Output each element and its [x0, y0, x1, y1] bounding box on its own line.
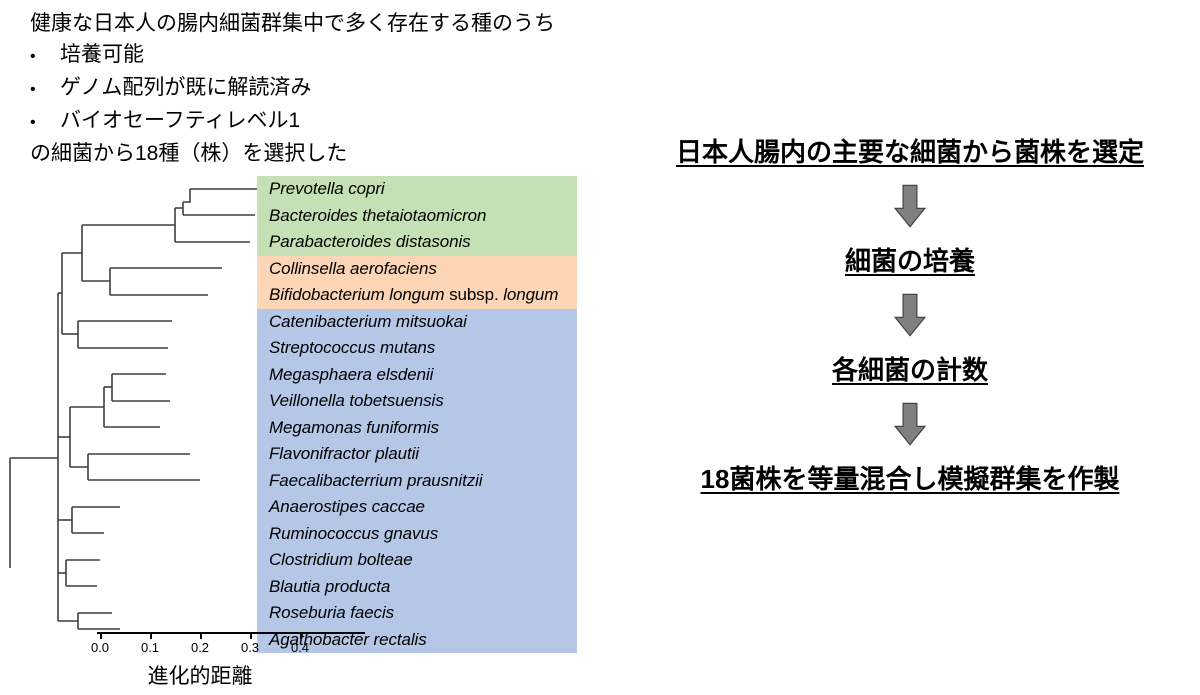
species-row: Anaerostipes caccae — [257, 494, 577, 521]
species-name: Bacteroides thetaiotaomicron — [269, 206, 486, 226]
intro-tail-line: の細菌から18種（株）を選択した — [30, 138, 630, 169]
down-arrow-icon — [887, 183, 933, 229]
species-name: Streptococcus mutans — [269, 338, 435, 358]
bullet-icon: • — [30, 107, 60, 138]
species-name: Collinsella aerofaciens — [269, 259, 437, 279]
axis-tick-label: 0.3 — [241, 640, 259, 655]
species-row: Clostridium bolteae — [257, 547, 577, 574]
axis-tick — [200, 632, 202, 639]
evolutionary-distance-axis: 0.0 0.1 0.2 0.3 0.4 進化的距離 — [0, 632, 600, 695]
species-name: Clostridium bolteae — [269, 550, 413, 570]
species-row: Veillonella tobetsuensis — [257, 388, 577, 415]
species-row: Bacteroides thetaiotaomicron — [257, 203, 577, 230]
intro-text-block: 健康な日本人の腸内細菌群集中で多く存在する種のうち • 培養可能 • ゲノム配列… — [30, 8, 630, 169]
species-name: Veillonella tobetsuensis — [269, 391, 444, 411]
down-arrow-icon — [887, 401, 933, 447]
intro-bullet-item: • ゲノム配列が既に解読済み — [30, 72, 630, 105]
species-name: Catenibacterium mitsuokai — [269, 312, 467, 332]
species-name: Anaerostipes caccae — [269, 497, 425, 517]
species-row: Roseburia faecis — [257, 600, 577, 627]
axis-tick-label: 0.0 — [91, 640, 109, 655]
flow-step-2: 細菌の培養 — [845, 241, 975, 278]
intro-bullet-item: • 培養可能 — [30, 39, 630, 72]
intro-bullet-label: バイオセーフティレベル1 — [60, 105, 300, 136]
species-row: Flavonifractor plautii — [257, 441, 577, 468]
species-row: Ruminococcus gnavus — [257, 521, 577, 548]
species-name: Ruminococcus gnavus — [269, 524, 438, 544]
species-row: Bifidobacterium longum subsp. longum — [257, 282, 577, 309]
phylogenetic-tree-figure: Prevotella copri Bacteroides thetaiotaom… — [0, 168, 600, 695]
species-row: Faecalibacterrium prausnitzii — [257, 468, 577, 495]
intro-bullet-item: • バイオセーフティレベル1 — [30, 105, 630, 138]
species-genus-species: Bifidobacterium longum — [269, 285, 444, 304]
axis-tick-label: 0.1 — [141, 640, 159, 655]
species-name-composite: Bifidobacterium longum subsp. longum — [269, 285, 558, 305]
species-name: Faecalibacterrium prausnitzii — [269, 471, 482, 491]
species-name: Megamonas funiformis — [269, 418, 439, 438]
species-group-blue: Catenibacterium mitsuokai Streptococcus … — [257, 309, 577, 654]
intro-bullet-label: ゲノム配列が既に解読済み — [60, 72, 311, 103]
species-row: Catenibacterium mitsuokai — [257, 309, 577, 336]
species-subspecies: longum — [503, 285, 558, 304]
species-name: Prevotella copri — [269, 179, 385, 199]
species-row: Prevotella copri — [257, 176, 577, 203]
species-subsp-marker: subsp. — [444, 285, 503, 304]
species-name: Blautia producta — [269, 577, 390, 597]
species-row: Parabacteroides distasonis — [257, 229, 577, 256]
species-group-green: Prevotella copri Bacteroides thetaiotaom… — [257, 176, 577, 256]
species-row: Streptococcus mutans — [257, 335, 577, 362]
intro-lead-line: 健康な日本人の腸内細菌群集中で多く存在する種のうち — [30, 8, 630, 39]
flow-step-3: 各細菌の計数 — [832, 350, 988, 387]
species-label-bands: Prevotella copri Bacteroides thetaiotaom… — [257, 176, 577, 653]
species-row: Blautia producta — [257, 574, 577, 601]
down-arrow-icon — [887, 292, 933, 338]
species-name: Flavonifractor plautii — [269, 444, 419, 464]
flow-step-1: 日本人腸内の主要な細菌から菌株を選定 — [676, 132, 1144, 169]
species-group-orange: Collinsella aerofaciens Bifidobacterium … — [257, 256, 577, 309]
species-row: Collinsella aerofaciens — [257, 256, 577, 283]
axis-tick — [150, 632, 152, 639]
species-name: Parabacteroides distasonis — [269, 232, 471, 252]
axis-title: 進化的距離 — [0, 660, 400, 690]
species-name: Megasphaera elsdenii — [269, 365, 433, 385]
bullet-icon: • — [30, 41, 60, 72]
species-row: Megamonas funiformis — [257, 415, 577, 442]
species-row: Megasphaera elsdenii — [257, 362, 577, 389]
axis-tick — [300, 632, 302, 639]
flow-step-4: 18菌株を等量混合し模擬群集を作製 — [701, 459, 1120, 496]
intro-bullet-label: 培養可能 — [60, 39, 144, 70]
axis-tick-label: 0.2 — [191, 640, 209, 655]
axis-tick — [100, 632, 102, 639]
axis-tick-label: 0.4 — [291, 640, 309, 655]
workflow-flowchart: 日本人腸内の主要な細菌から菌株を選定 細菌の培養 各細菌の計数 18菌株を等量混… — [620, 132, 1200, 496]
species-name: Roseburia faecis — [269, 603, 394, 623]
bullet-icon: • — [30, 74, 60, 105]
axis-tick — [250, 632, 252, 639]
axis-line — [97, 632, 365, 634]
